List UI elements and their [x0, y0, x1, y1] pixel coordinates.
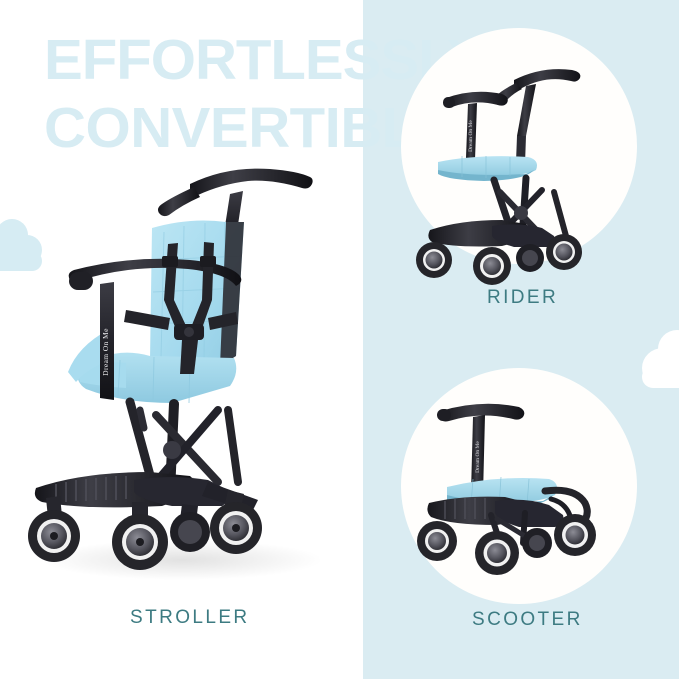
rider-product-image: Dream On Me [430, 50, 610, 240]
caption-rider: RIDER [487, 287, 558, 309]
cloud-icon [640, 328, 679, 390]
wheel [516, 244, 544, 272]
wheel [546, 234, 582, 270]
seat-platform [438, 156, 537, 181]
wheel [28, 496, 80, 562]
headline-line-2: CONVERTIBLE [44, 94, 391, 162]
stroller-product-image: Dream On Me [22, 160, 342, 585]
child-t-handle: Dream On Me [443, 92, 508, 160]
push-handle [494, 69, 580, 164]
product-marketing-image: EFFORTLESSLY CONVERTIBLE [0, 0, 679, 679]
headline: EFFORTLESSLY CONVERTIBLE [44, 26, 391, 162]
wheel [522, 528, 552, 558]
wheel [416, 242, 452, 278]
brand-label-stroller: Dream On Me [101, 328, 110, 376]
brand-label-scooter: Dream On Me [475, 441, 481, 473]
wheel [475, 531, 519, 575]
wheel [417, 521, 457, 561]
wheel [554, 514, 596, 556]
headline-line-1: EFFORTLESSLY [44, 26, 391, 94]
footboard [428, 220, 554, 247]
caption-stroller: STROLLER [130, 607, 250, 629]
scooter-product-image: Dream On Me [425, 395, 615, 570]
brand-label-rider: Dream On Me [468, 120, 474, 152]
wheel [170, 504, 210, 552]
caption-scooter: SCOOTER [472, 609, 583, 631]
wheel [473, 247, 511, 285]
seat-back [150, 220, 244, 374]
wheel [112, 502, 168, 570]
